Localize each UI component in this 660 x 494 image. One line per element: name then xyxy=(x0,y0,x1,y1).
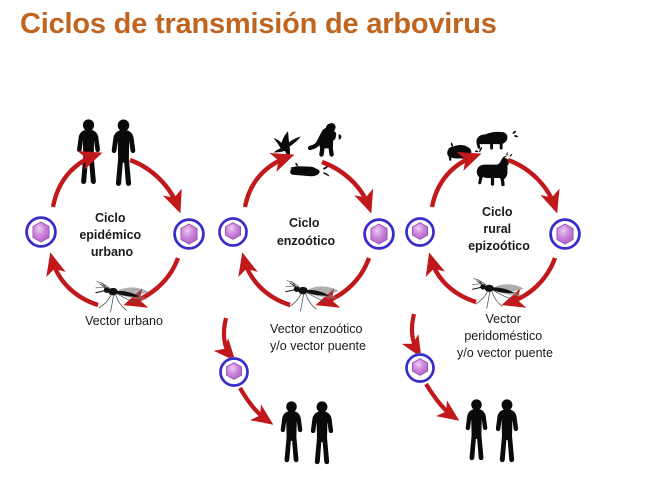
monkey-icon xyxy=(308,123,341,157)
cycle-enzootic: Ciclo enzoótico Vector enzoótico y/o vec… xyxy=(224,123,369,464)
arrow-urban-host-to-virus xyxy=(130,160,178,207)
cycle-urban-vector-label: Vector urbano xyxy=(85,314,163,328)
bird-icon xyxy=(274,131,301,159)
arrow-rural-to-spillover-virus xyxy=(412,314,418,352)
arrow-rural-vector-to-virus xyxy=(431,259,476,302)
arrow-enzootic-host-to-virus xyxy=(322,162,369,207)
arrow-spillover-right-to-humans xyxy=(426,384,454,417)
virus-urban-left xyxy=(25,216,57,248)
cycle-urban: Ciclo epidémico urbano Vector urbano xyxy=(52,119,178,328)
enzootic-vector-mosquito-icon xyxy=(285,281,338,312)
cycle-urban-label: Ciclo epidémico urbano xyxy=(79,211,144,259)
virus-spillover-right xyxy=(405,353,435,383)
arrow-enzootic-to-spillover-virus xyxy=(224,318,231,356)
arbovirus-transmission-diagram: Ciclo epidémico urbano Vector urbano xyxy=(0,0,660,494)
arrow-rural-virus-to-vector xyxy=(508,258,555,303)
cycle-rural: Ciclo rural epizoótico Vector peridomést… xyxy=(412,131,555,462)
cycle-rural-vector-label: Vector peridoméstico y/o vector puente xyxy=(457,312,553,360)
arrow-enzootic-vector-to-virus xyxy=(244,259,290,305)
spillover-humans-right xyxy=(466,399,518,462)
enzootic-hosts xyxy=(274,123,342,176)
pig-icon xyxy=(447,142,478,162)
rural-hosts xyxy=(447,131,518,187)
arrow-urban-vector-to-virus xyxy=(52,259,98,305)
virus-rural-right xyxy=(549,218,581,250)
arrow-enzootic-vector-to-host xyxy=(245,157,288,207)
virus-spillover-center xyxy=(219,357,249,387)
cycle-enzootic-vector-label: Vector enzoótico y/o vector puente xyxy=(270,322,366,353)
cycle-rural-label: Ciclo rural epizoótico xyxy=(468,205,530,253)
virus-enzootic-left xyxy=(218,217,248,247)
urban-hosts-two-humans-icon xyxy=(77,119,135,185)
arrow-rural-host-to-virus xyxy=(508,160,555,207)
horse-icon xyxy=(477,152,513,187)
urban-vector-mosquito-icon xyxy=(95,282,148,313)
cycle-enzootic-label: Ciclo enzoótico xyxy=(277,216,336,248)
virus-urban-right xyxy=(173,218,205,250)
arrow-spillover-center-to-humans xyxy=(240,388,268,421)
slide-canvas: Ciclos de transmisión de arbovirus xyxy=(0,0,660,494)
virus-enzootic-right xyxy=(363,218,395,250)
spillover-humans-center xyxy=(281,401,333,464)
cow-icon xyxy=(476,131,518,153)
virus-rural-left xyxy=(405,217,435,247)
rural-vector-mosquito-icon xyxy=(472,279,524,309)
arrow-rural-vector-to-host xyxy=(432,156,475,207)
